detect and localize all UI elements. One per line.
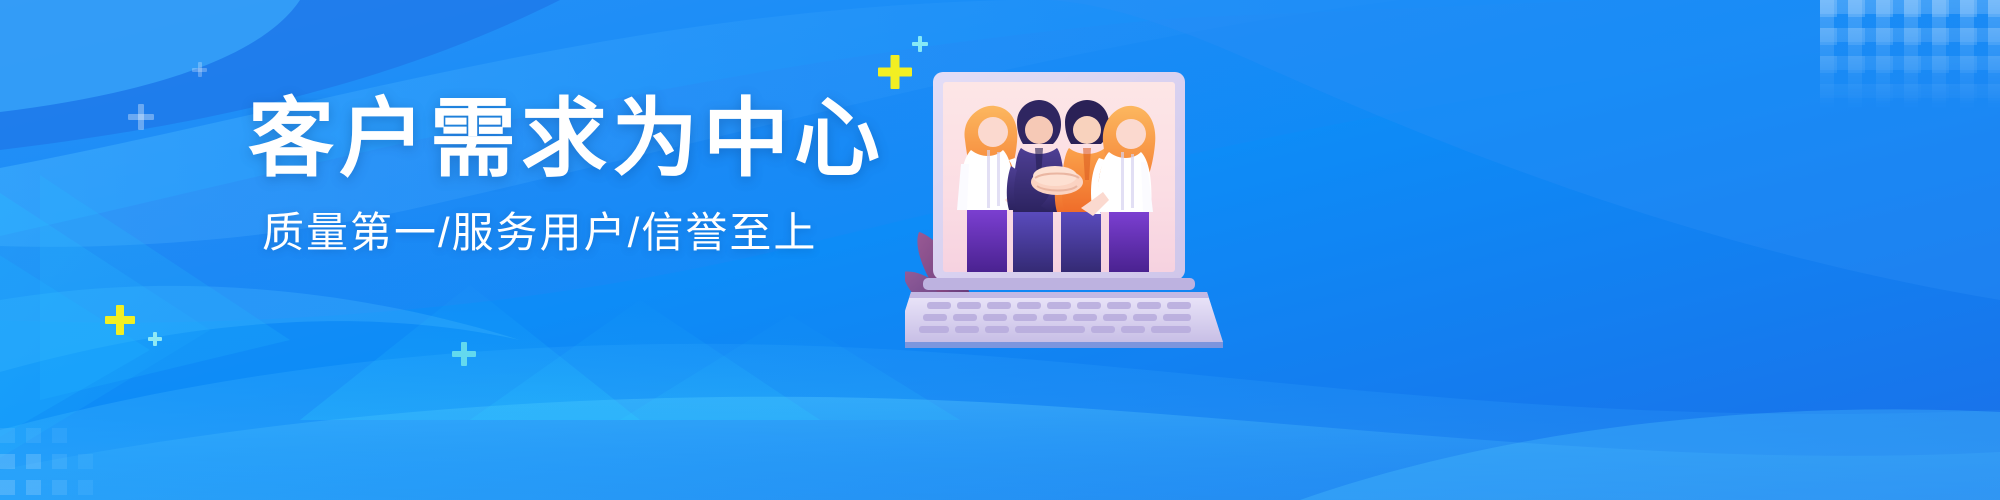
laptop-illustration (905, 60, 1305, 350)
plus-mark-cyan-small-icon (912, 36, 928, 52)
plus-mark-white-small-icon (192, 62, 207, 77)
banner-text-block: 客户需求为中心 质量第一/服务用户/信誉至上 (248, 96, 868, 254)
plus-mark-cyan-center-icon (452, 342, 476, 366)
banner-subheadline: 质量第一/服务用户/信誉至上 (262, 212, 868, 254)
dot-grid-top-right (1820, 0, 2000, 110)
banner-headline: 客户需求为中心 (248, 96, 868, 182)
dot-grid-bottom-left (0, 410, 120, 500)
plus-mark-cyan-bottom-icon (148, 332, 162, 346)
promo-banner: 客户需求为中心 质量第一/服务用户/信誉至上 (0, 0, 2000, 500)
plus-mark-yellow-bottom-icon (105, 305, 135, 335)
plus-mark-white-upper-icon (128, 104, 154, 130)
